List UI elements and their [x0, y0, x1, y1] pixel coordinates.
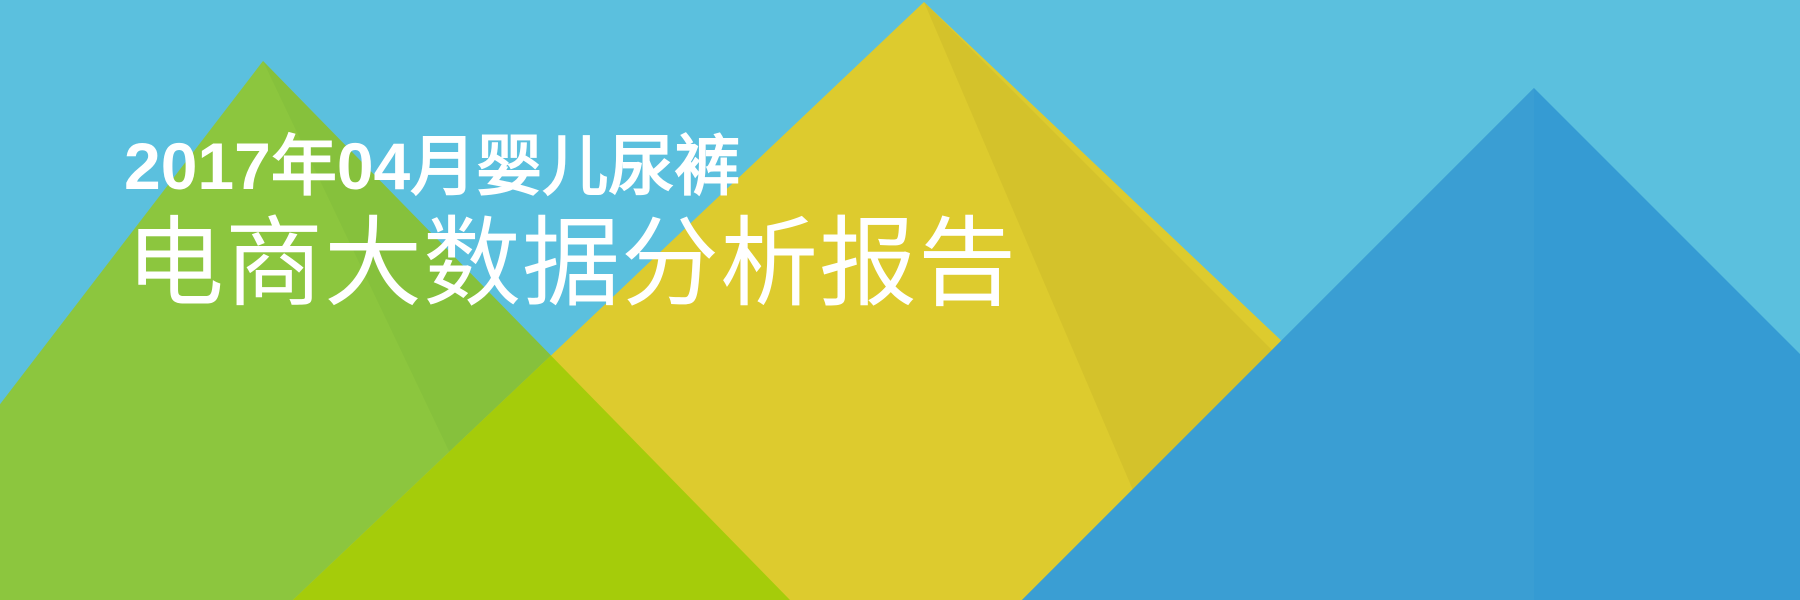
banner-title-line-2: 电商大数据分析报告: [124, 211, 1017, 317]
banner-title-line-1: 2017年04月婴儿尿裤: [124, 132, 1017, 201]
report-cover-banner: 2017年04月婴儿尿裤 电商大数据分析报告: [0, 0, 1800, 600]
banner-title-block: 2017年04月婴儿尿裤 电商大数据分析报告: [124, 132, 1017, 317]
